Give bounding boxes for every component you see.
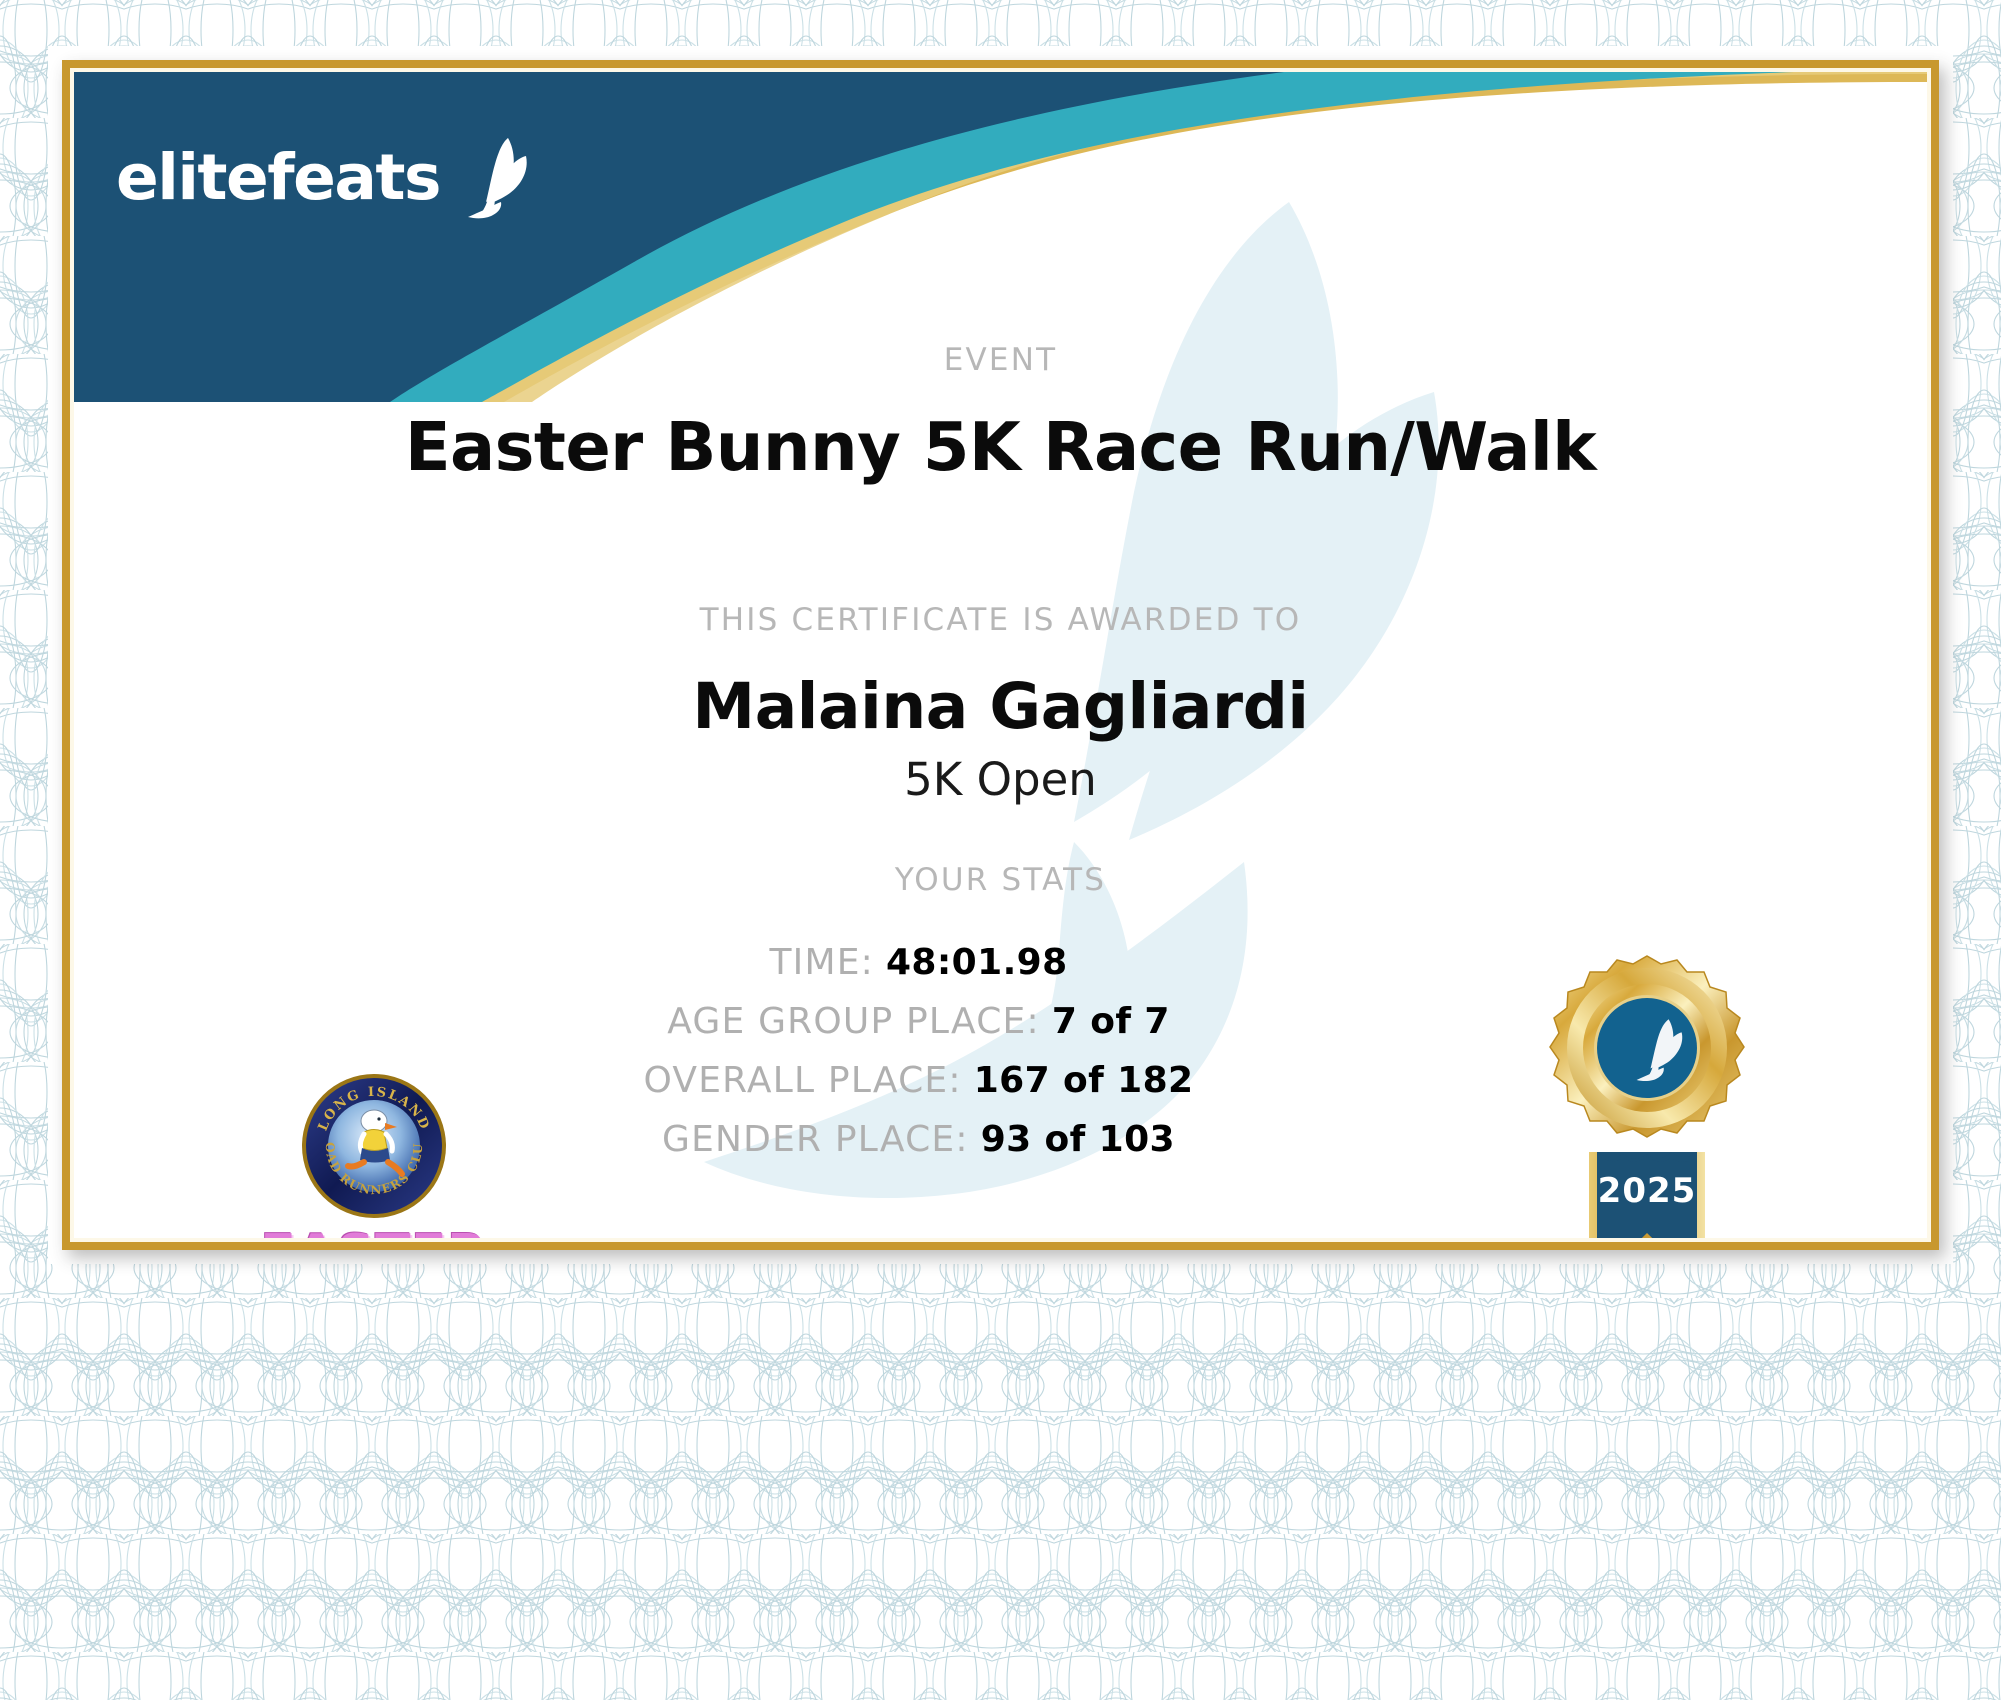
stat-value: 7 of 7 [1052, 1001, 1170, 1042]
gold-rosette-medal-icon: 2025 [1527, 952, 1767, 1238]
event-section: EVENT Easter Bunny 5K Race Run/Walk [74, 342, 1927, 486]
winged-foot-icon [446, 134, 532, 220]
finisher-seal: 2025 FINISHER CERTIFICATE [1487, 952, 1807, 1238]
recipient-name: Malaina Gagliardi [74, 670, 1927, 743]
stat-value: 48:01.98 [886, 942, 1068, 983]
stat-label: AGE GROUP PLACE: [667, 1001, 1040, 1042]
stats-kicker: YOUR STATS [74, 862, 1927, 898]
stat-label: GENDER PLACE: [662, 1119, 969, 1160]
svg-text:2025: 2025 [1598, 1171, 1697, 1211]
certificate-canvas: elitefeats EVENT Easter Bunny 5K Race Ru… [74, 72, 1927, 1238]
stat-label: OVERALL PLACE: [644, 1060, 962, 1101]
certificate-page: elitefeats EVENT Easter Bunny 5K Race Ru… [0, 0, 2001, 1700]
certificate-frame: elitefeats EVENT Easter Bunny 5K Race Ru… [62, 60, 1939, 1250]
award-section: THIS CERTIFICATE IS AWARDED TO Malaina G… [74, 602, 1927, 806]
elitefeats-wordmark: elitefeats [116, 146, 440, 209]
award-kicker: THIS CERTIFICATE IS AWARDED TO [74, 602, 1927, 638]
event-kicker: EVENT [74, 342, 1927, 378]
event-title: Easter Bunny 5K Race Run/Walk [74, 408, 1927, 486]
stat-value: 93 of 103 [981, 1119, 1175, 1160]
division-label: 5K Open [74, 753, 1927, 806]
race-logo-line-1: EASTER [224, 1230, 524, 1238]
long-island-road-runners-club-badge-icon: LONG ISLAND ROAD RUNNERS CLUB [300, 1072, 448, 1220]
elitefeats-logo: elitefeats [116, 134, 532, 220]
stat-label: TIME: [769, 942, 874, 983]
race-logo: LONG ISLAND ROAD RUNNERS CLUB [224, 1072, 524, 1238]
stat-value: 167 of 182 [974, 1060, 1194, 1101]
